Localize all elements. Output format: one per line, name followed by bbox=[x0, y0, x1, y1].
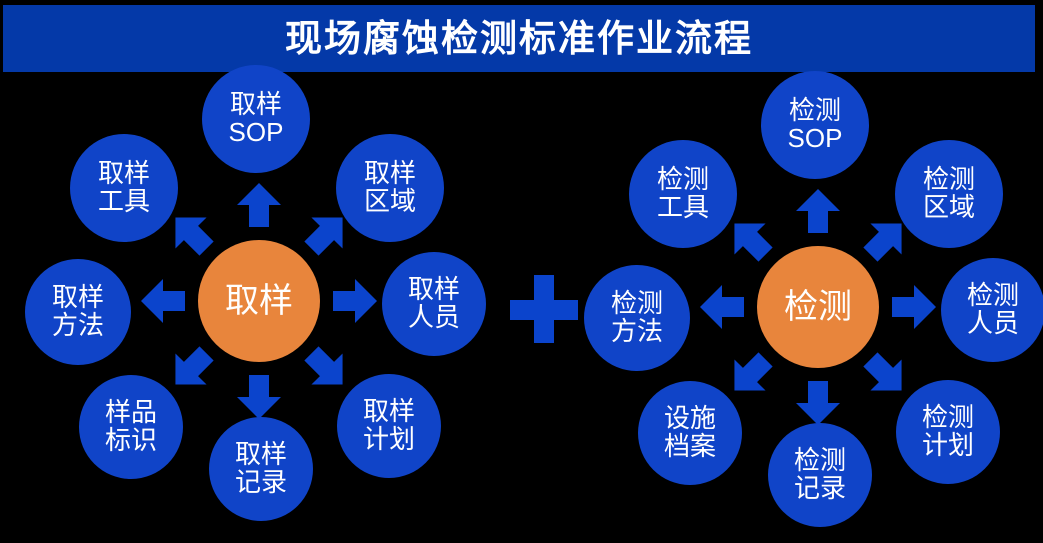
node-inspection-method[interactable]: 检测方法 bbox=[584, 265, 690, 371]
node-label: 设施 bbox=[664, 405, 716, 433]
node-inspection-tools[interactable]: 检测工具 bbox=[629, 140, 737, 248]
node-label: 检测 bbox=[611, 290, 663, 318]
node-label: 检测 bbox=[967, 282, 1019, 310]
node-label: 检测 bbox=[789, 97, 841, 125]
node-inspection-plan[interactable]: 检测计划 bbox=[896, 380, 1000, 484]
hub-label: 检测 bbox=[784, 289, 852, 325]
node-label: 检测 bbox=[923, 166, 975, 194]
node-inspection-sop[interactable]: 检测SOP bbox=[761, 71, 869, 179]
hub-inspection[interactable]: 检测 bbox=[757, 246, 879, 368]
cluster-inspection: 检测SOP检测工具检测区域检测方法检测人员设施档案检测计划检测记录检测 bbox=[0, 0, 1043, 543]
plus-vertical-bar bbox=[534, 275, 554, 343]
plus-connector-icon bbox=[510, 275, 578, 343]
node-inspection-record[interactable]: 检测记录 bbox=[768, 423, 872, 527]
node-label: 方法 bbox=[611, 318, 663, 346]
node-label: 计划 bbox=[922, 432, 974, 460]
node-inspection-person[interactable]: 检测人员 bbox=[941, 258, 1043, 362]
node-label: 检测 bbox=[794, 447, 846, 475]
node-inspection-area[interactable]: 检测区域 bbox=[895, 140, 1003, 248]
node-label: 检测 bbox=[922, 404, 974, 432]
node-label: 人员 bbox=[967, 310, 1019, 338]
flow-arrow-icon bbox=[699, 284, 745, 330]
flow-arrow-icon bbox=[795, 188, 841, 234]
node-facility-archive[interactable]: 设施档案 bbox=[638, 381, 742, 485]
diagram-canvas: 现场腐蚀检测标准作业流程 取样SOP取样工具取样区域取样方法取样人员样品标识取样… bbox=[0, 0, 1043, 543]
node-label: 记录 bbox=[794, 475, 846, 503]
node-label: SOP bbox=[788, 125, 843, 153]
node-label: 档案 bbox=[664, 433, 716, 461]
node-label: 区域 bbox=[923, 194, 975, 222]
flow-arrow-icon bbox=[891, 284, 937, 330]
node-label: 检测 bbox=[657, 166, 709, 194]
flow-arrow-icon bbox=[795, 380, 841, 426]
node-label: 工具 bbox=[657, 194, 709, 222]
